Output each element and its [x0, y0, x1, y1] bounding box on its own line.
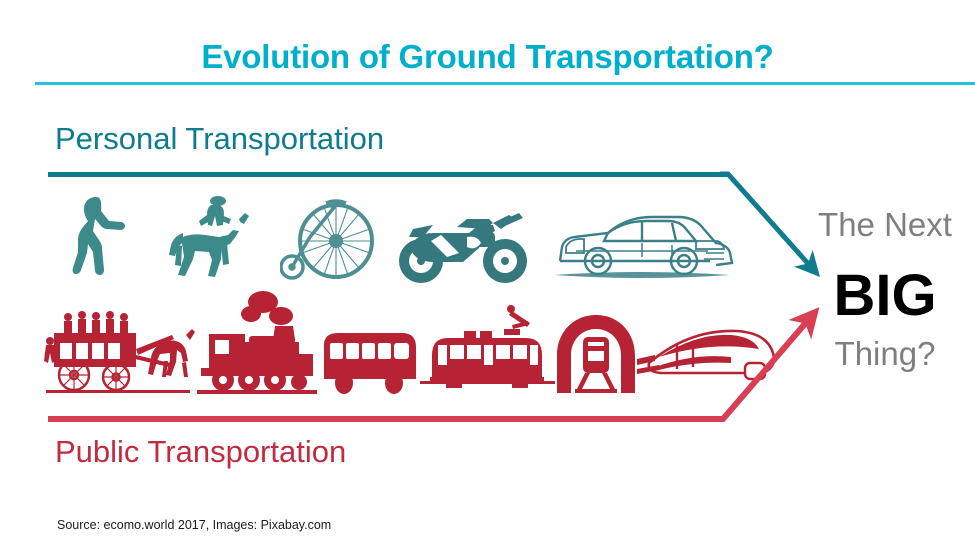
- public-icon-row: [40, 285, 760, 395]
- motorcycle-icon: [388, 193, 538, 285]
- page-title: Evolution of Ground Transportation?: [0, 38, 975, 76]
- horse-rider-icon: [153, 193, 268, 285]
- section-label-public: Public Transportation: [55, 434, 346, 470]
- outcome-line-top: The Next: [795, 206, 975, 244]
- title-divider: [35, 82, 975, 85]
- personal-timeline-rule: [48, 172, 728, 177]
- steam-locomotive-icon: [195, 285, 320, 395]
- outcome-line-big: BIG: [795, 262, 975, 329]
- bus-icon: [320, 285, 420, 395]
- section-label-personal: Personal Transportation: [55, 121, 384, 157]
- outcome-line-bottom: Thing?: [795, 335, 975, 373]
- horse-drawn-omnibus-icon: [40, 285, 195, 395]
- public-timeline-rule: [48, 416, 724, 422]
- walking-person-icon: [48, 193, 153, 285]
- subway-tunnel-icon: [555, 285, 637, 395]
- tram-icon: [420, 285, 555, 395]
- slide-canvas: Evolution of Ground Transportation? Pers…: [0, 0, 975, 548]
- penny-farthing-bicycle-icon: [268, 193, 388, 285]
- source-note: Source: ecomo.world 2017, Images: Pixaba…: [57, 518, 331, 532]
- personal-icon-row: [48, 190, 748, 285]
